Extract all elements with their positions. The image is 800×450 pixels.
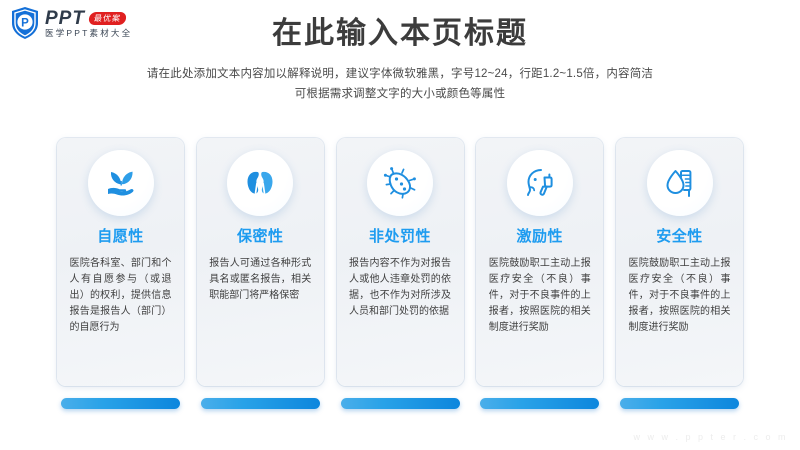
card-text: 报告内容不作为对报告人或他人违章处罚的依据，也不作为对所涉及人员和部门处罚的依据	[349, 256, 451, 320]
page-subtitle: 请在此处添加文本内容加以解释说明，建议字体微软雅黑，字号12~24，行距1.2~…	[0, 64, 800, 104]
hand-holding-leaf-icon	[88, 150, 154, 216]
card-title: 激励性	[516, 229, 563, 244]
card-accent-bar	[61, 398, 180, 409]
footer-watermark: w w w . p p t e r . c o m	[633, 432, 788, 442]
bacteria-icon	[367, 150, 433, 216]
card-text: 报告人可通过各种形式具名或匿名报告，相关职能部门将严格保密	[209, 256, 311, 304]
card-item[interactable]: 保密性 报告人可通过各种形式具名或匿名报告，相关职能部门将严格保密	[197, 138, 324, 400]
card-title: 非处罚性	[369, 229, 431, 244]
card-accent-bar	[480, 398, 599, 409]
card-item[interactable]: 激励性 医院鼓励职工主动上报医疗安全（不良）事件，对于不良事件的上报者，按照医院…	[476, 138, 603, 400]
card-text: 医院鼓励职工主动上报医疗安全（不良）事件，对于不良事件的上报者，按照医院的相关制…	[489, 256, 591, 336]
subtitle-line-2: 可根据需求调整文字的大小或颜色等属性	[0, 84, 800, 104]
iv-drip-icon	[647, 150, 713, 216]
kidneys-icon	[227, 150, 293, 216]
card-body: 自愿性 医院各科室、部门和个人有自愿参与（或退出）的权利，提供信息报告是报告人（…	[57, 138, 184, 386]
card-text: 医院各科室、部门和个人有自愿参与（或退出）的权利，提供信息报告是报告人（部门）的…	[70, 256, 172, 336]
subtitle-line-1: 请在此处添加文本内容加以解释说明，建议字体微软雅黑，字号12~24，行距1.2~…	[0, 64, 800, 84]
inhaler-face-icon	[507, 150, 573, 216]
card-accent-bar	[201, 398, 320, 409]
page-title: 在此输入本页标题	[0, 16, 800, 52]
card-item[interactable]: 自愿性 医院各科室、部门和个人有自愿参与（或退出）的权利，提供信息报告是报告人（…	[57, 138, 184, 400]
card-item[interactable]: 安全性 医院鼓励职工主动上报医疗安全（不良）事件，对于不良事件的上报者，按照医院…	[616, 138, 743, 400]
card-accent-bar	[341, 398, 460, 409]
card-title: 安全性	[656, 229, 703, 244]
card-body: 保密性 报告人可通过各种形式具名或匿名报告，相关职能部门将严格保密	[197, 138, 324, 386]
card-body: 激励性 医院鼓励职工主动上报医疗安全（不良）事件，对于不良事件的上报者，按照医院…	[476, 138, 603, 386]
card-accent-bar	[620, 398, 739, 409]
card-body: 非处罚性 报告内容不作为对报告人或他人违章处罚的依据，也不作为对所涉及人员和部门…	[337, 138, 464, 386]
card-title: 保密性	[237, 229, 284, 244]
card-body: 安全性 医院鼓励职工主动上报医疗安全（不良）事件，对于不良事件的上报者，按照医院…	[616, 138, 743, 386]
card-title: 自愿性	[97, 229, 144, 244]
card-text: 医院鼓励职工主动上报医疗安全（不良）事件，对于不良事件的上报者，按照医院的相关制…	[629, 256, 731, 336]
card-row: 自愿性 医院各科室、部门和个人有自愿参与（或退出）的权利，提供信息报告是报告人（…	[57, 138, 743, 400]
card-item[interactable]: 非处罚性 报告内容不作为对报告人或他人违章处罚的依据，也不作为对所涉及人员和部门…	[337, 138, 464, 400]
